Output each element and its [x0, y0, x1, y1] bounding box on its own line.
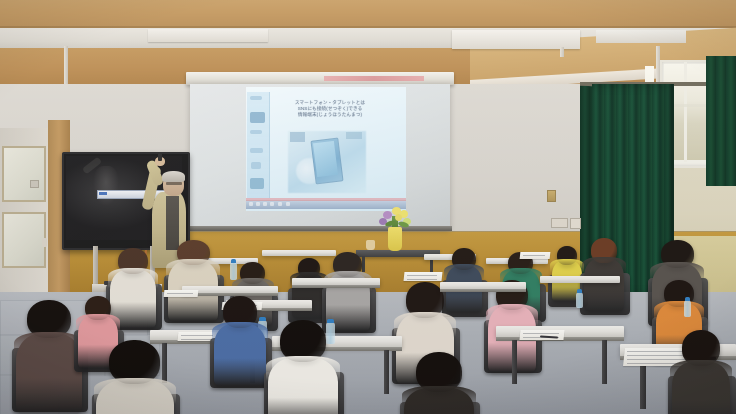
classroom-photo-scene: スマートフォン・タブレットとは SNSにも接続(せつぞく)できる 情報端末(じょ…: [0, 0, 736, 414]
attendee-front-center-dark: [0, 0, 736, 414]
attendee-shoulders: [402, 386, 476, 408]
